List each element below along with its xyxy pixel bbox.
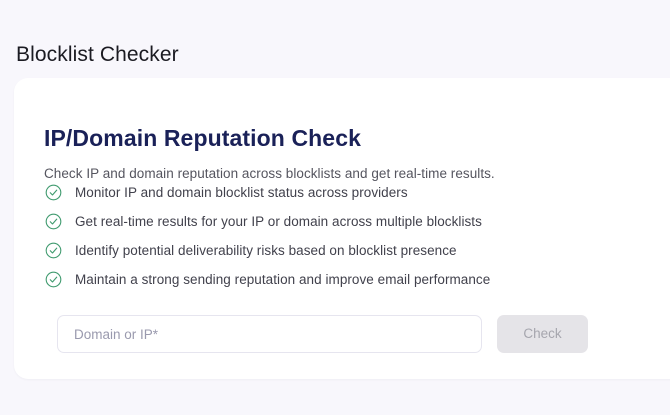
lookup-form: Check [57,315,588,353]
reputation-check-card: IP/Domain Reputation Check Check IP and … [14,78,670,379]
check-circle-icon [45,184,62,201]
page-title: Blocklist Checker [16,41,179,69]
feature-list: Monitor IP and domain blocklist status a… [45,178,490,294]
list-item: Monitor IP and domain blocklist status a… [45,178,490,207]
blocklist-checker-page: Blocklist Checker IP/Domain Reputation C… [0,0,670,415]
list-item-label: Maintain a strong sending reputation and… [75,271,490,289]
list-item: Maintain a strong sending reputation and… [45,265,490,294]
check-circle-icon [45,213,62,230]
list-item-label: Get real-time results for your IP or dom… [75,213,482,231]
card-heading: IP/Domain Reputation Check [44,123,361,153]
domain-or-ip-input[interactable] [57,315,482,353]
card-content: IP/Domain Reputation Check Check IP and … [44,78,670,379]
check-circle-icon [45,271,62,288]
list-item: Get real-time results for your IP or dom… [45,207,490,236]
check-circle-icon [45,242,62,259]
check-button[interactable]: Check [497,315,588,353]
list-item-label: Monitor IP and domain blocklist status a… [75,184,408,202]
list-item: Identify potential deliverability risks … [45,236,490,265]
list-item-label: Identify potential deliverability risks … [75,242,457,260]
